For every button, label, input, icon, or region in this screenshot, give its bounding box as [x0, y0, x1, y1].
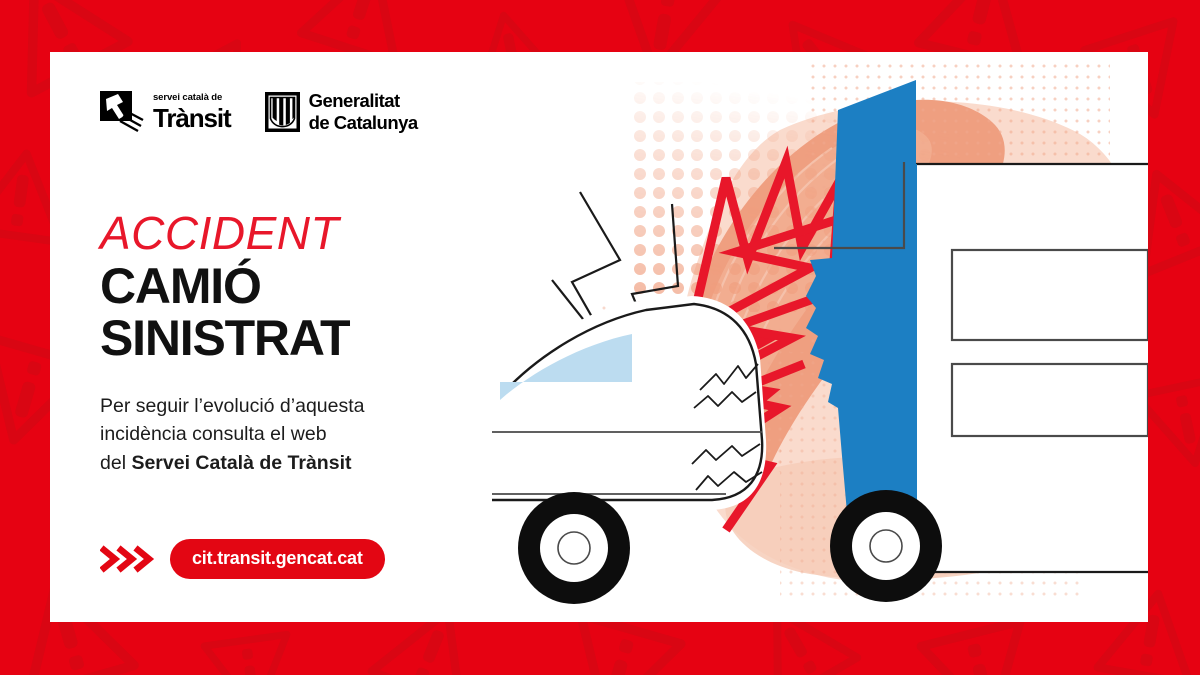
generalitat-line-2: de Catalunya	[309, 112, 418, 134]
headline-line-1: CAMIÓ	[100, 260, 349, 312]
headline-group: ACCIDENT CAMIÓ SINISTRAT	[100, 210, 349, 364]
cta-group[interactable]: cit.transit.gencat.cat	[100, 539, 385, 579]
car-wheel	[518, 492, 630, 604]
car-truck-collision-illustration	[480, 52, 1148, 622]
transit-logo-wordmark: Trànsit	[153, 105, 231, 131]
headline-kicker: ACCIDENT	[100, 210, 349, 256]
generalitat-line-1: Generalitat	[309, 90, 418, 112]
website-url-pill[interactable]: cit.transit.gencat.cat	[170, 539, 385, 579]
body-line-3-bold: Servei Català de Trànsit	[131, 452, 351, 474]
generalitat-logo: Generalitat de Catalunya	[265, 90, 418, 134]
white-car-front	[490, 296, 766, 604]
triple-chevron-right-icon	[100, 545, 156, 573]
logo-row: servei català de Trànsit	[100, 90, 418, 134]
body-line-1: Per seguir l’evolució d’aquesta	[100, 392, 420, 420]
servei-catala-transit-logo-icon	[100, 91, 144, 133]
transit-logo: servei català de Trànsit	[100, 91, 231, 133]
poster-canvas: servei català de Trànsit	[0, 0, 1200, 675]
generalitat-catalunya-coat-of-arms-icon	[265, 92, 300, 132]
body-line-2: incidència consulta el web	[100, 420, 420, 448]
truck-wheel	[830, 490, 942, 602]
transit-logo-subtitle: servei català de	[153, 93, 231, 103]
body-copy: Per seguir l’evolució d’aquesta incidènc…	[100, 392, 420, 477]
body-line-3: del Servei Català de Trànsit	[100, 449, 420, 477]
headline-line-2: SINISTRAT	[100, 312, 349, 364]
content-card: servei català de Trànsit	[50, 52, 1148, 622]
body-line-3-prefix: del	[100, 452, 131, 474]
